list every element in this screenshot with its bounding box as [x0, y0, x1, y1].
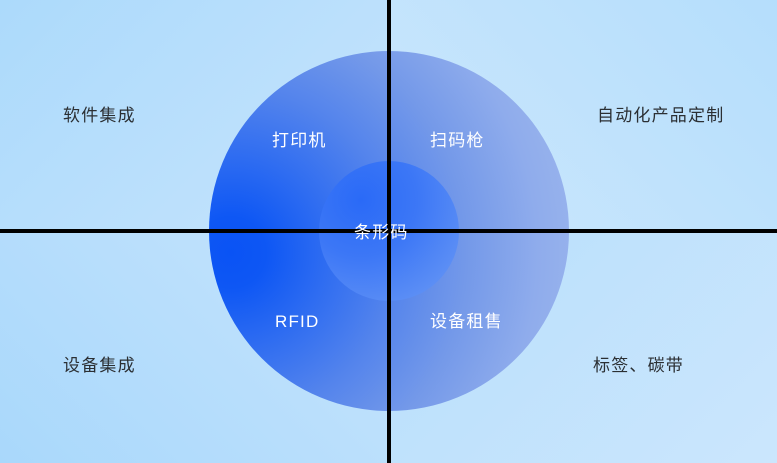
outer-label-software-integration: 软件集成 [63, 107, 136, 124]
diagram-canvas: 软件集成 自动化产品定制 设备集成 标签、碳带 打印机 扫码枪 RFID 设备租… [0, 0, 777, 463]
outer-label-device-integration: 设备集成 [63, 357, 136, 374]
inner-label-rfid: RFID [275, 313, 319, 330]
inner-label-printer: 打印机 [272, 132, 327, 149]
core-circle-label: 条形码 [354, 224, 409, 241]
outer-label-automation-customized: 自动化产品定制 [597, 107, 724, 124]
inner-label-device-rental: 设备租售 [430, 313, 503, 330]
inner-label-barcode-scanner: 扫码枪 [430, 132, 485, 149]
outer-label-labels-ribbons: 标签、碳带 [593, 357, 684, 374]
